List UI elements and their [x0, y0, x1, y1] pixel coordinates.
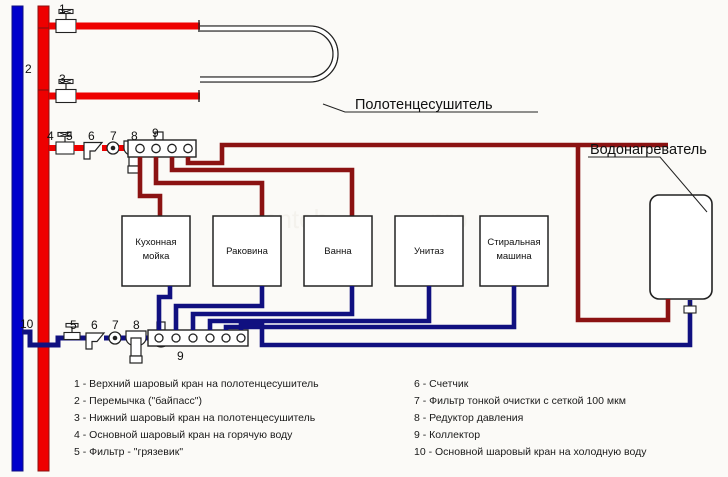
- callout-cold-8: 8: [133, 318, 140, 332]
- appliance-label-line1: Кухонная: [135, 237, 176, 248]
- appliance-label-line2: мойка: [143, 251, 170, 262]
- legend-item: 7 - Фильтр тонкой очистки с сеткой 100 м…: [414, 395, 626, 407]
- appliance-label-line1: Раковина: [226, 246, 268, 257]
- legend-item: 1 - Верхний шаровый кран на полотенцесуш…: [74, 378, 319, 390]
- appliance-label-line1: Унитаз: [414, 246, 444, 257]
- callout-2: 2: [25, 62, 32, 76]
- appliance-label-line1: Ванна: [324, 246, 352, 257]
- legend-item: 9 - Коллектор: [414, 429, 480, 441]
- callout-cold-5: 5: [70, 318, 77, 332]
- diagram-canvas: santeh pro 1 3 2 Полотенцесушитель: [0, 0, 728, 477]
- appliance-label-line2: машина: [496, 251, 532, 262]
- cold-water-riser: [12, 6, 23, 471]
- legend-item: 8 - Редуктор давления: [414, 412, 523, 424]
- bypass-segment: [38, 28, 49, 90]
- callout-1: 1: [59, 2, 66, 16]
- towel-warmer-label: Полотенцесушитель: [355, 97, 493, 113]
- legend-item: 10 - Основной шаровый кран на холодную в…: [414, 446, 647, 458]
- legend-item: 6 - Счетчик: [414, 378, 469, 390]
- callout-cold-9: 9: [177, 349, 184, 363]
- callout-cold-6: 6: [91, 318, 98, 332]
- legend-item: 3 - Нижний шаровый кран на полотенцесуши…: [74, 412, 316, 424]
- legend-item: 5 - Фильтр - "грязевик": [74, 446, 183, 458]
- callout-hot-9: 9: [152, 126, 159, 140]
- callout-3: 3: [59, 72, 66, 86]
- hot-manifold: [128, 140, 196, 157]
- callout-hot-5: 5: [66, 129, 73, 143]
- appliance-washing-machine[interactable]: Стиральная машина: [480, 216, 548, 286]
- appliance-bathtub[interactable]: Ванна: [304, 216, 372, 286]
- water-heater-label: Водонагреватель: [590, 142, 707, 158]
- appliance-label-line1: Стиральная: [487, 237, 540, 248]
- water-meter-hot: [107, 142, 119, 154]
- plumbing-schematic: santeh pro 1 3 2 Полотенцесушитель: [0, 0, 728, 477]
- cold-manifold: [148, 330, 248, 346]
- water-meter-cold: [109, 332, 121, 344]
- appliance-toilet[interactable]: Унитаз: [395, 216, 463, 286]
- legend-item: 4 - Основной шаровый кран на горячую вод…: [74, 429, 293, 441]
- callout-cold-10: 10: [20, 317, 34, 331]
- callout-hot-4: 4: [47, 129, 54, 143]
- callout-cold-7: 7: [112, 318, 119, 332]
- callout-hot-6: 6: [88, 129, 95, 143]
- water-heater[interactable]: [650, 195, 712, 299]
- appliance-washbasin[interactable]: Раковина: [213, 216, 281, 286]
- appliance-kitchen-sink[interactable]: Кухонная мойка: [122, 216, 190, 286]
- callout-hot-7: 7: [110, 129, 117, 143]
- legend-item: 2 - Перемычка ("байпасс"): [74, 395, 202, 407]
